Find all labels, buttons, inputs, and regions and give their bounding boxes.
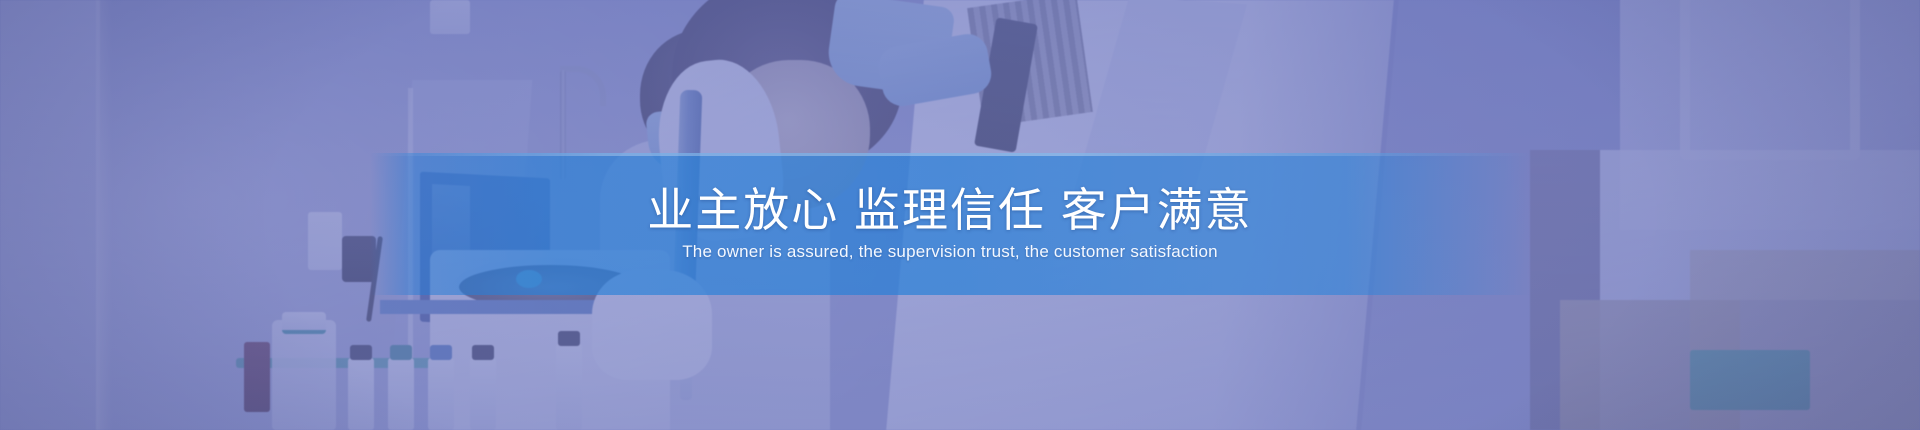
headline-band: 业主放心 监理信任 客户满意 The owner is assured, the…: [370, 153, 1530, 295]
hero-banner: 业主放心 监理信任 客户满意 The owner is assured, the…: [0, 0, 1920, 430]
banner-headline: 业主放心 监理信任 客户满意: [647, 185, 1253, 236]
banner-subheadline: The owner is assured, the supervision tr…: [682, 241, 1218, 263]
